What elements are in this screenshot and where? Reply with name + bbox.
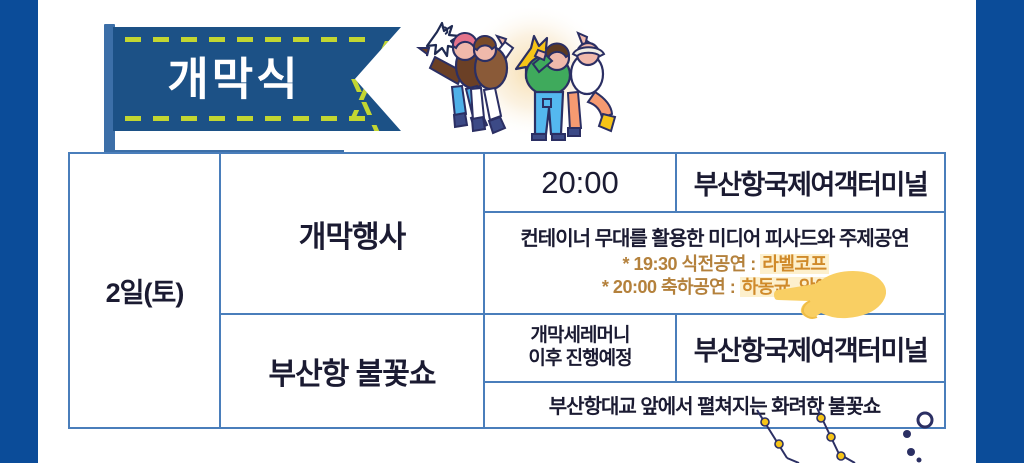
banner-title: 개막식 [113,57,355,102]
detail-line-2-highlight: 하동균, 안예은 [740,277,849,297]
cell-place-opening: 부산항국제여객터미널 [676,153,945,212]
detail-line-2-prefix: * 20:00 축하공연 : [602,277,740,297]
cell-event-opening: 개막행사 [220,153,484,314]
banner-dash-chevron-upper [351,41,390,117]
poster-canvas: 개막식 [0,0,1024,463]
detail-line-1: * 19:30 식전공연 : 라벨코프 [491,253,938,276]
person-cheering-c [526,43,570,140]
table-row-opening-time: 2일(토) 개막행사 20:00 부산항국제여객터미널 [69,153,945,212]
cell-time-fireworks-line2: 이후 진행예정 [528,348,631,369]
starburst-icon [427,23,459,56]
cell-description-opening: 컨테이너 무대를 활용한 미디어 피사드와 주제공연 * 19:30 식전공연 … [484,212,945,314]
section-banner: 개막식 [113,27,401,131]
schedule-table: 2일(토) 개막행사 20:00 부산항국제여객터미널 컨테이너 무대를 활용한… [68,152,946,429]
person-cheering-b [471,36,513,133]
celebrating-people-illustration [415,2,645,160]
cell-time-fireworks-line1: 개막세레머니 [531,325,630,346]
right-blue-bar [976,0,1024,463]
cell-time-fireworks: 개막세레머니 이후 진행예정 [484,314,676,382]
detail-line-1-prefix: * 19:30 식전공연 : [622,254,760,274]
cell-description-fireworks: 부산항대교 앞에서 펼쳐지는 화려한 불꽃쇼 [484,382,945,428]
detail-line-2: * 20:00 축하공연 : 하동균, 안예은 [491,276,938,299]
description-head-opening: 컨테이너 무대를 활용한 미디어 피사드와 주제공연 [491,227,938,253]
cell-event-fireworks: 부산항 불꽃쇼 [220,314,484,428]
banner-dash-bottom [125,116,377,121]
person-cheering-d [568,33,615,136]
starburst-center-icon [516,36,560,80]
banner-dash-top [125,37,377,42]
cell-time-opening: 20:00 [484,153,676,212]
cell-date: 2일(토) [69,153,220,428]
left-blue-bar [0,0,38,463]
detail-line-1-highlight: 라벨코프 [760,254,828,274]
cell-place-fireworks: 부산항국제여객터미널 [676,314,945,382]
person-cheering-a [419,33,490,130]
